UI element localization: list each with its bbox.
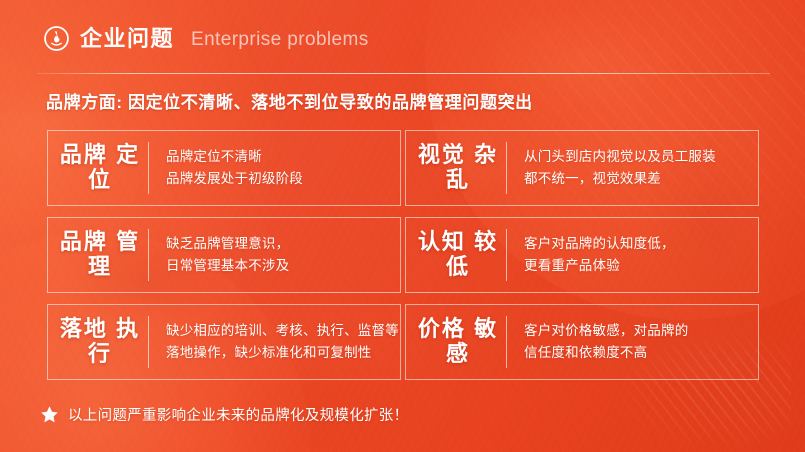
card-desc-line1: 品牌定位不清晰 bbox=[166, 146, 392, 168]
problem-card[interactable]: 认知 较低 客户对品牌的认知度低， 更看重产品体验 bbox=[405, 217, 759, 293]
section-subtitle: 品牌方面: 因定位不清晰、落地不到位导致的品牌管理问题突出 bbox=[46, 88, 533, 113]
card-label-line1: 价格 bbox=[418, 316, 466, 341]
problem-card[interactable]: 价格 敏感 客户对价格敏感，对品牌的 信任度和依赖度不高 bbox=[405, 304, 759, 380]
card-description: 缺少相应的培训、考核、执行、监督等 落地操作，缺少标准化和可复制性 bbox=[149, 320, 407, 364]
card-desc-line2: 落地操作，缺少标准化和可复制性 bbox=[166, 342, 399, 364]
slide-root: 企业问题 Enterprise problems 品牌方面: 因定位不清晰、落地… bbox=[0, 0, 805, 452]
problem-card[interactable]: 品牌 定位 品牌定位不清晰 品牌发展处于初级阶段 bbox=[47, 130, 401, 206]
card-description: 客户对价格敏感，对品牌的 信任度和依赖度不高 bbox=[507, 320, 758, 364]
card-description: 品牌定位不清晰 品牌发展处于初级阶段 bbox=[149, 146, 400, 190]
card-description: 缺乏品牌管理意识， 日常管理基本不涉及 bbox=[149, 233, 400, 277]
card-desc-line2: 都不统一，视觉效果差 bbox=[524, 168, 750, 190]
card-desc-line1: 缺少相应的培训、考核、执行、监督等 bbox=[166, 320, 399, 342]
slide-footer: 以上问题严重影响企业未来的品牌化及规模化扩张！ bbox=[40, 404, 408, 425]
card-label: 认知 较低 bbox=[406, 230, 506, 279]
card-desc-line1: 从门头到店内视觉以及员工服装 bbox=[524, 146, 750, 168]
page-title-en: Enterprise problems bbox=[191, 30, 369, 49]
card-label: 价格 敏感 bbox=[406, 317, 506, 366]
page-title-cn: 企业问题 bbox=[80, 28, 174, 50]
star-icon bbox=[40, 405, 59, 424]
fire-badge-icon bbox=[44, 26, 69, 51]
card-label: 视觉 杂乱 bbox=[406, 143, 506, 192]
card-desc-line2: 日常管理基本不涉及 bbox=[166, 255, 392, 277]
problem-card[interactable]: 品牌 管理 缺乏品牌管理意识， 日常管理基本不涉及 bbox=[47, 217, 401, 293]
card-label-line1: 落地 bbox=[60, 316, 108, 341]
card-desc-line1: 缺乏品牌管理意识， bbox=[166, 233, 392, 255]
problem-card[interactable]: 落地 执行 缺少相应的培训、考核、执行、监督等 落地操作，缺少标准化和可复制性 bbox=[47, 304, 401, 380]
card-label-line1: 品牌 bbox=[60, 142, 108, 167]
problem-card-grid: 品牌 定位 品牌定位不清晰 品牌发展处于初级阶段 视觉 杂乱 从门头到店内视觉以… bbox=[47, 130, 759, 380]
footer-note: 以上问题严重影响企业未来的品牌化及规模化扩张！ bbox=[68, 404, 408, 425]
card-label-line1: 视觉 bbox=[418, 142, 466, 167]
slide-content: 企业问题 Enterprise problems 品牌方面: 因定位不清晰、落地… bbox=[0, 0, 805, 452]
card-label: 落地 执行 bbox=[48, 317, 148, 366]
card-desc-line2: 品牌发展处于初级阶段 bbox=[166, 168, 392, 190]
card-desc-line2: 信任度和依赖度不高 bbox=[524, 342, 750, 364]
card-label-line1: 品牌 bbox=[60, 229, 108, 254]
slide-header: 企业问题 Enterprise problems bbox=[44, 26, 369, 51]
card-label: 品牌 定位 bbox=[48, 143, 148, 192]
header-divider bbox=[37, 73, 770, 74]
card-description: 客户对品牌的认知度低， 更看重产品体验 bbox=[507, 233, 758, 277]
card-description: 从门头到店内视觉以及员工服装 都不统一，视觉效果差 bbox=[507, 146, 758, 190]
card-desc-line2: 更看重产品体验 bbox=[524, 255, 750, 277]
card-label: 品牌 管理 bbox=[48, 230, 148, 279]
problem-card[interactable]: 视觉 杂乱 从门头到店内视觉以及员工服装 都不统一，视觉效果差 bbox=[405, 130, 759, 206]
card-desc-line1: 客户对价格敏感，对品牌的 bbox=[524, 320, 750, 342]
card-label-line1: 认知 bbox=[418, 229, 466, 254]
card-desc-line1: 客户对品牌的认知度低， bbox=[524, 233, 750, 255]
